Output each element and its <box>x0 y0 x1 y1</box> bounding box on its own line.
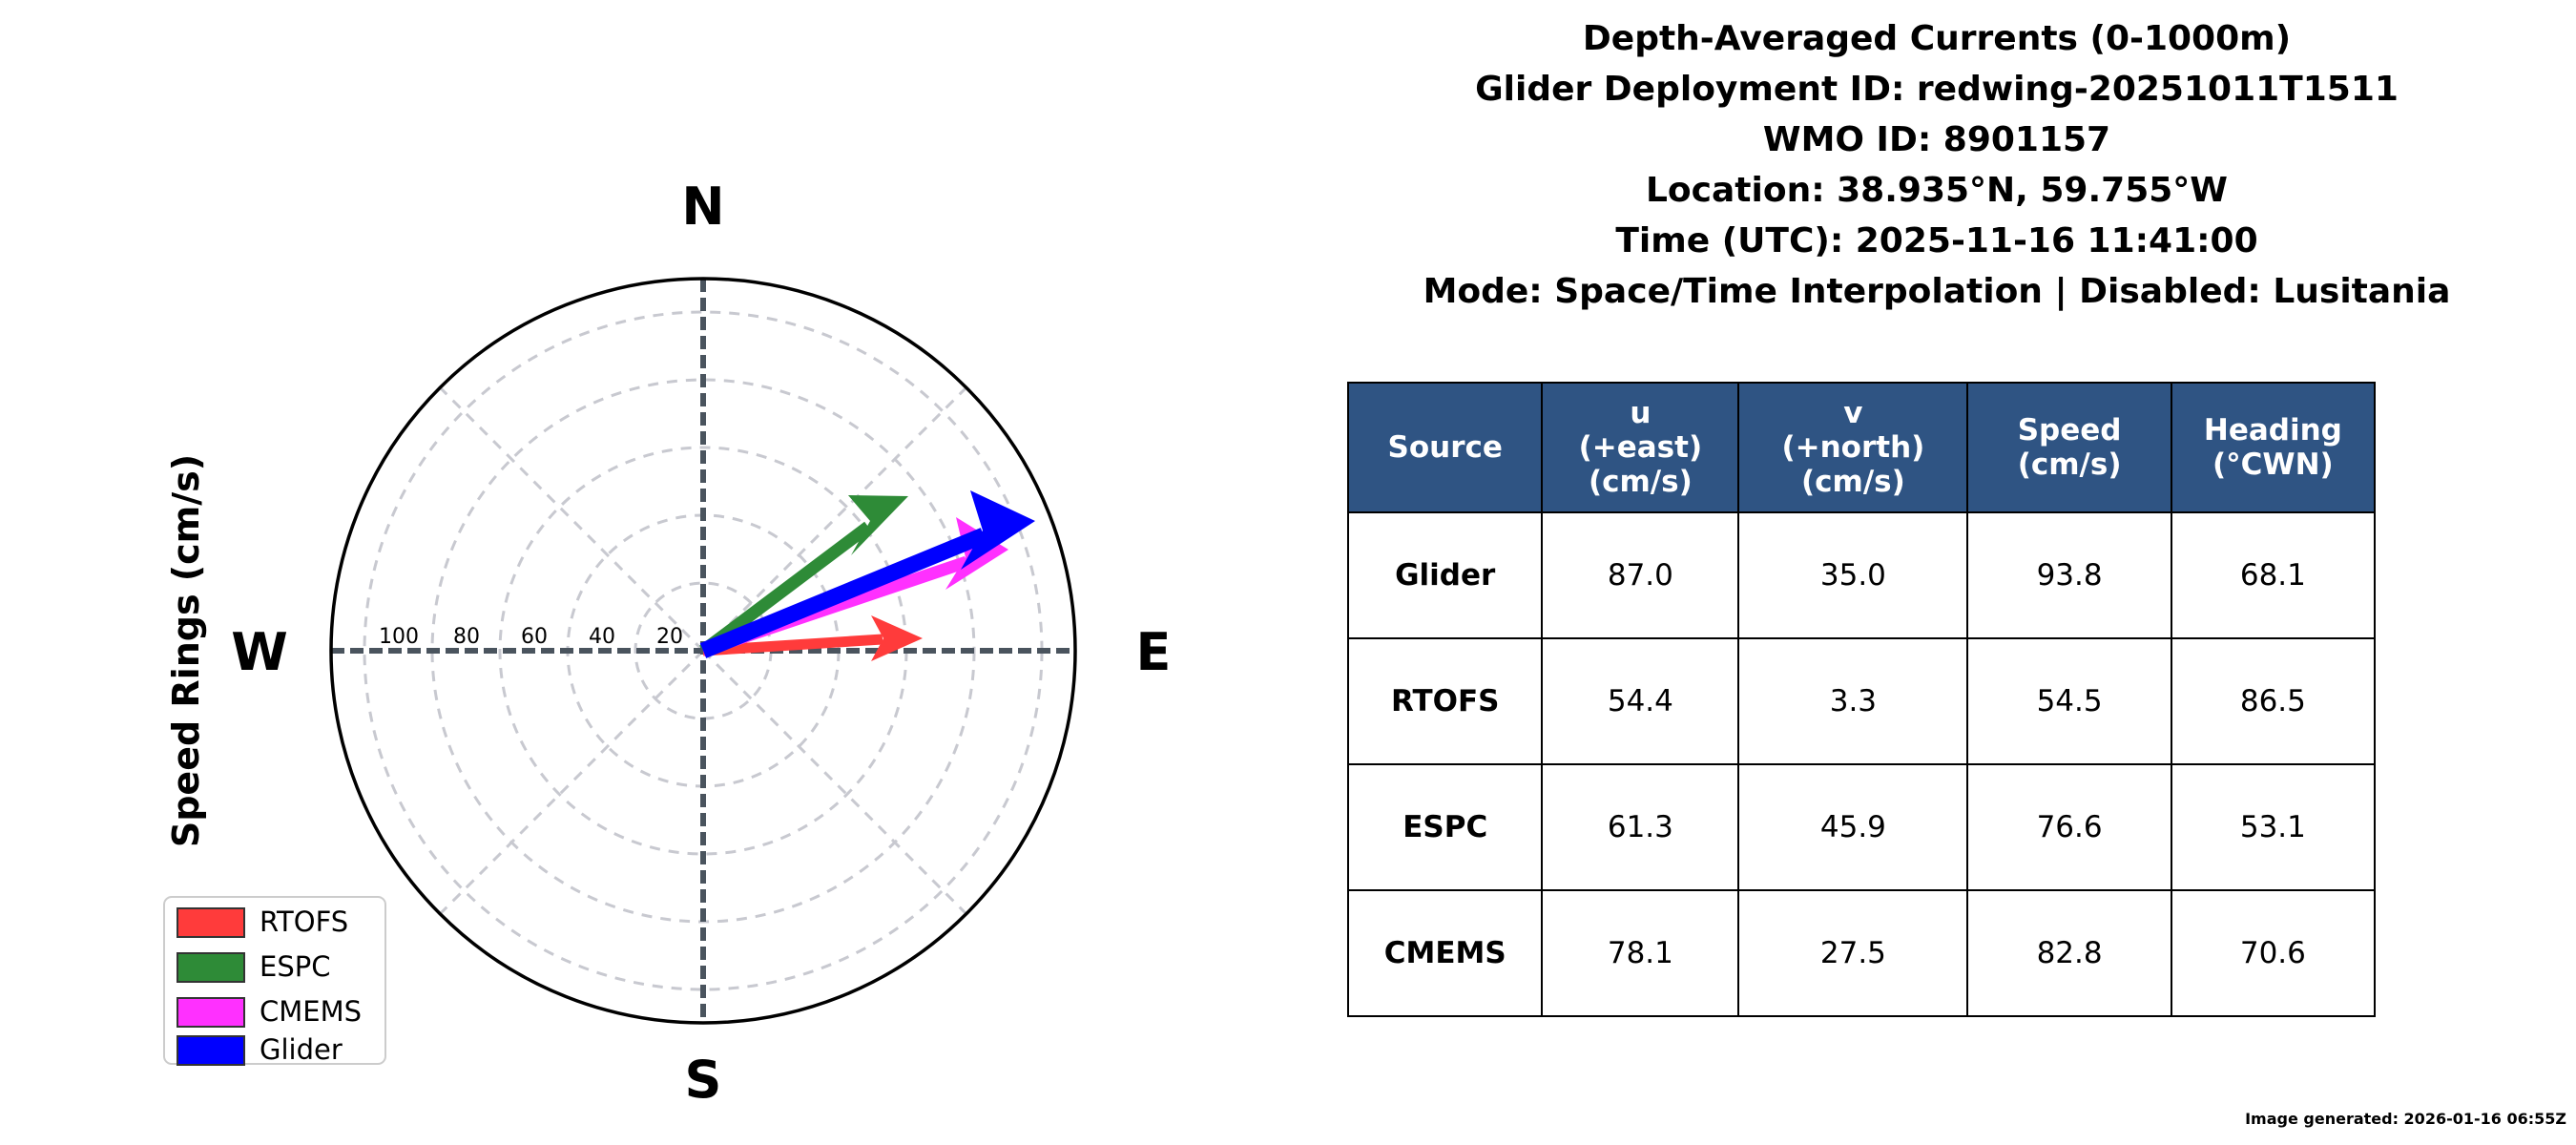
legend-label-glider: Glider <box>260 1033 343 1066</box>
legend: RTOFS ESPC CMEMS Glider <box>164 897 385 1066</box>
table-header: Source u (+east) (cm/s) v (+north) (cm/s… <box>1348 383 2375 512</box>
cell-source-cmems: CMEMS <box>1348 890 1542 1016</box>
ring-labels-group: 100 80 60 40 20 <box>379 625 683 649</box>
cell-heading-glider: 68.1 <box>2171 512 2375 638</box>
cell-speed-rtofs: 54.5 <box>1967 638 2171 764</box>
title-line-time: Time (UTC): 2025-11-16 11:41:00 <box>1298 216 2576 266</box>
column-header-u: u (+east) (cm/s) <box>1542 383 1738 512</box>
cell-v-cmems: 27.5 <box>1738 890 1967 1016</box>
cell-source-espc: ESPC <box>1348 764 1542 890</box>
cell-v-glider: 35.0 <box>1738 512 1967 638</box>
table-header-row: Source u (+east) (cm/s) v (+north) (cm/s… <box>1348 383 2375 512</box>
column-header-u-line2: (+east) <box>1579 430 1703 465</box>
legend-label-rtofs: RTOFS <box>260 906 348 938</box>
compass-label-east: E <box>1136 622 1172 682</box>
cell-source-glider: Glider <box>1348 512 1542 638</box>
column-header-v: v (+north) (cm/s) <box>1738 383 1967 512</box>
column-header-v-line2: (+north) <box>1781 430 1924 465</box>
image-generated-timestamp: Image generated: 2026-01-16 06:55Z <box>2245 1110 2566 1128</box>
legend-swatch-glider <box>177 1036 244 1065</box>
cell-speed-cmems: 82.8 <box>1967 890 2171 1016</box>
ring-label-80: 80 <box>453 625 480 649</box>
column-header-source: Source <box>1348 383 1542 512</box>
column-header-source-line1: Source <box>1388 430 1503 465</box>
title-line-mode: Mode: Space/Time Interpolation | Disable… <box>1298 266 2576 317</box>
cell-u-espc: 61.3 <box>1542 764 1738 890</box>
column-header-u-line1: u <box>1630 396 1651 430</box>
compass-label-south: S <box>685 1050 722 1110</box>
spoke-se <box>703 651 966 914</box>
legend-label-espc: ESPC <box>260 950 330 983</box>
legend-swatch-cmems <box>177 998 244 1027</box>
cell-source-rtofs: RTOFS <box>1348 638 1542 764</box>
spoke-nw <box>440 387 703 651</box>
cell-speed-glider: 93.8 <box>1967 512 2171 638</box>
column-header-v-line3: (cm/s) <box>1801 465 1905 499</box>
ring-label-60: 60 <box>521 625 548 649</box>
compass-label-north: N <box>681 177 724 237</box>
legend-swatch-rtofs <box>177 908 244 937</box>
title-line-depth-averaged-currents: Depth-Averaged Currents (0-1000m) <box>1298 13 2576 64</box>
cell-v-rtofs: 3.3 <box>1738 638 1967 764</box>
cell-heading-rtofs: 86.5 <box>2171 638 2375 764</box>
ring-label-20: 20 <box>656 625 683 649</box>
cell-heading-espc: 53.1 <box>2171 764 2375 890</box>
title-line-location: Location: 38.935°N, 59.755°W <box>1298 165 2576 216</box>
table-body: Glider 87.0 35.0 93.8 68.1 RTOFS 54.4 3.… <box>1348 512 2375 1016</box>
y-axis-label: Speed Rings (cm/s) <box>165 454 207 847</box>
compass-label-west: W <box>231 622 288 682</box>
table-row: Glider 87.0 35.0 93.8 68.1 <box>1348 512 2375 638</box>
table-row: RTOFS 54.4 3.3 54.5 86.5 <box>1348 638 2375 764</box>
column-header-u-line3: (cm/s) <box>1589 465 1693 499</box>
ring-label-40: 40 <box>589 625 615 649</box>
table-row: ESPC 61.3 45.9 76.6 53.1 <box>1348 764 2375 890</box>
column-header-heading-line1: Heading <box>2204 413 2342 448</box>
legend-label-cmems: CMEMS <box>260 995 362 1028</box>
column-header-v-line1: v <box>1843 396 1862 430</box>
title-line-deployment-id: Glider Deployment ID: redwing-20251011T1… <box>1298 64 2576 114</box>
info-panel: Depth-Averaged Currents (0-1000m) Glider… <box>1298 0 2576 1145</box>
title-block: Depth-Averaged Currents (0-1000m) Glider… <box>1298 13 2576 317</box>
column-header-heading-line2: (°CWN) <box>2212 448 2334 482</box>
cell-u-cmems: 78.1 <box>1542 890 1738 1016</box>
spoke-sw <box>440 651 703 914</box>
cell-v-espc: 45.9 <box>1738 764 1967 890</box>
currents-table-container: Source u (+east) (cm/s) v (+north) (cm/s… <box>1347 382 2378 1017</box>
polar-plot-panel: 100 80 60 40 20 N S E W <box>0 0 1298 1145</box>
column-header-speed-line1: Speed <box>2018 413 2122 448</box>
column-header-speed: Speed (cm/s) <box>1967 383 2171 512</box>
title-line-wmo-id: WMO ID: 8901157 <box>1298 114 2576 165</box>
column-header-heading: Heading (°CWN) <box>2171 383 2375 512</box>
ring-label-100: 100 <box>379 625 419 649</box>
cell-speed-espc: 76.6 <box>1967 764 2171 890</box>
currents-table: Source u (+east) (cm/s) v (+north) (cm/s… <box>1347 382 2376 1017</box>
cell-heading-cmems: 70.6 <box>2171 890 2375 1016</box>
polar-plot-svg: 100 80 60 40 20 N S E W <box>0 0 1298 1145</box>
legend-swatch-espc <box>177 953 244 982</box>
table-row: CMEMS 78.1 27.5 82.8 70.6 <box>1348 890 2375 1016</box>
column-header-speed-line2: (cm/s) <box>2018 448 2122 482</box>
cell-u-rtofs: 54.4 <box>1542 638 1738 764</box>
cell-u-glider: 87.0 <box>1542 512 1738 638</box>
